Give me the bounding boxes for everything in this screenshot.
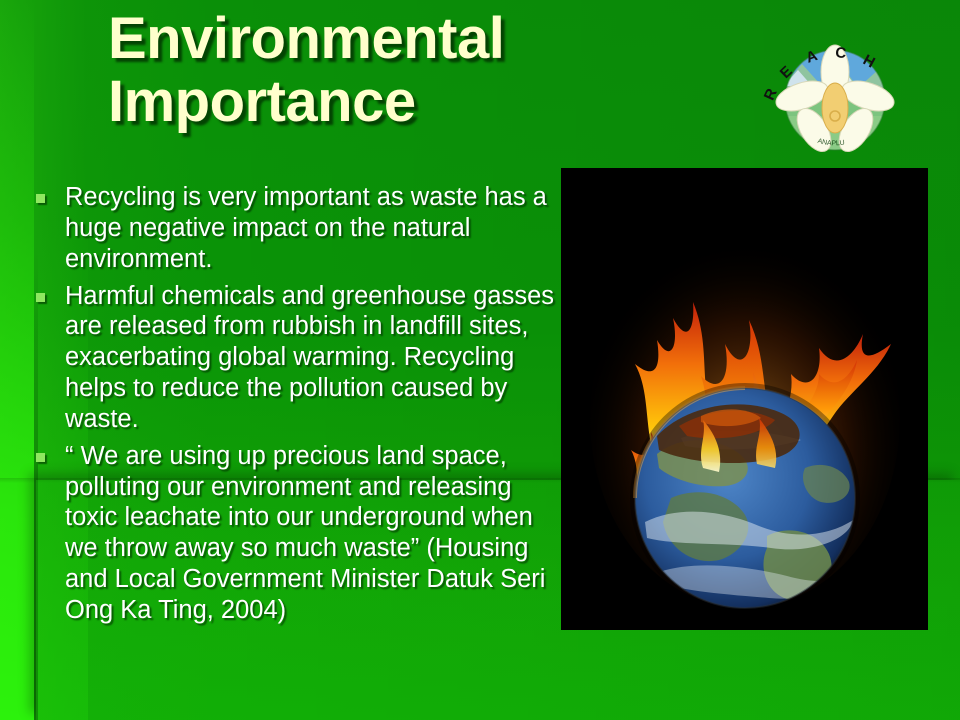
reach-logo: R E A C H ANAPLU [750, 12, 920, 182]
bullet-list: Recycling is very important as waste has… [22, 182, 562, 632]
square-bullet-icon [36, 194, 45, 203]
list-item-text: Harmful chemicals and greenhouse gasses … [65, 281, 562, 435]
list-item-text: “ We are using up precious land space, p… [65, 441, 562, 626]
list-item: “ We are using up precious land space, p… [22, 441, 562, 626]
list-item-text: Recycling is very important as waste has… [65, 182, 562, 275]
square-bullet-icon [36, 453, 45, 462]
list-item: Recycling is very important as waste has… [22, 182, 562, 275]
earth-globe [633, 386, 859, 610]
presentation-slide: Environmental Importance [0, 0, 960, 720]
square-bullet-icon [36, 293, 45, 302]
burning-earth-photo [561, 168, 928, 630]
slide-title: Environmental Importance [108, 8, 728, 133]
list-item: Harmful chemicals and greenhouse gasses … [22, 281, 562, 435]
